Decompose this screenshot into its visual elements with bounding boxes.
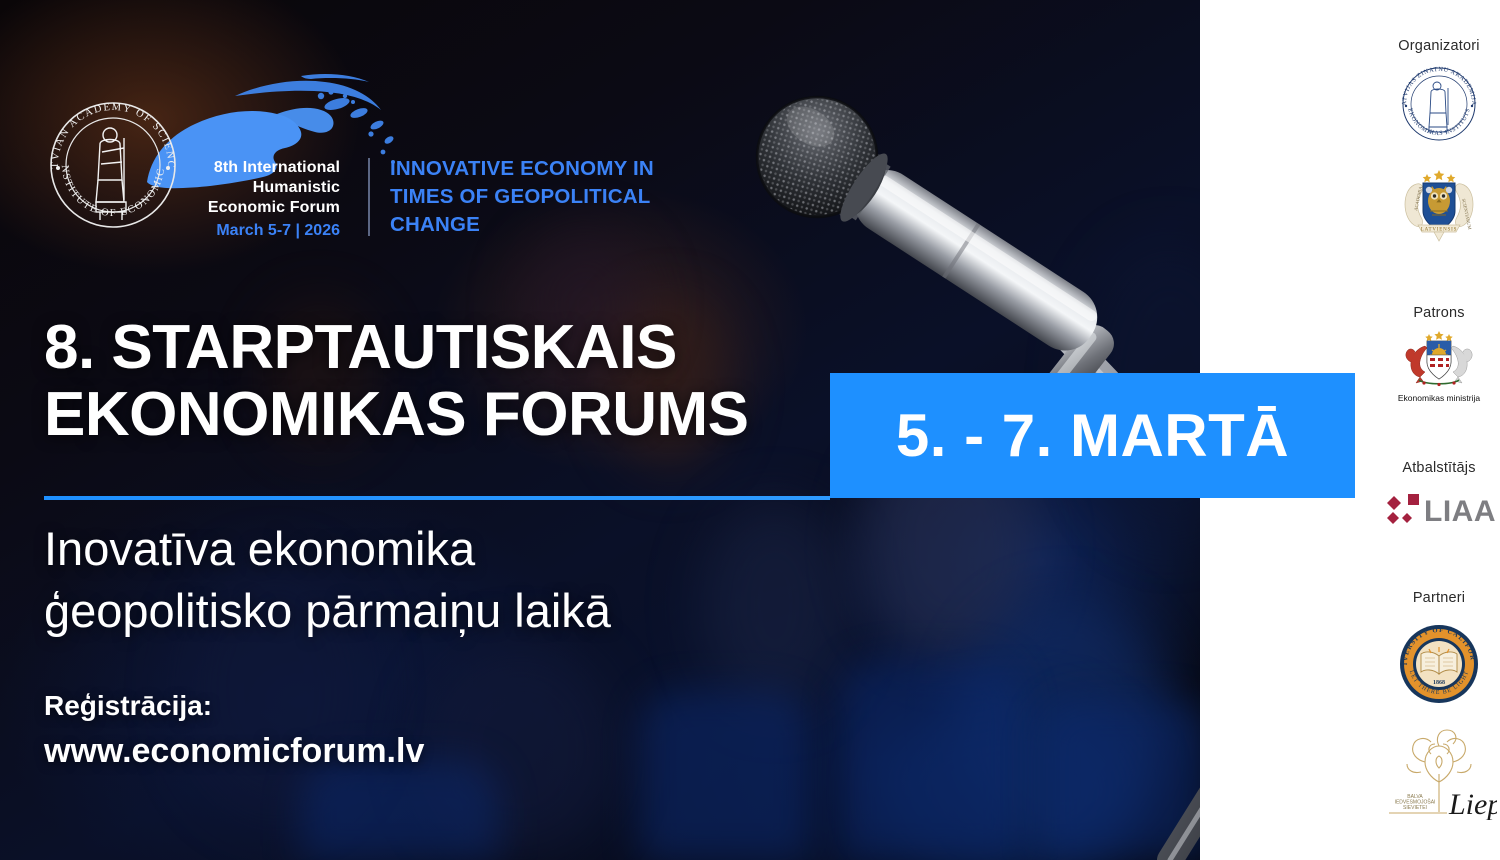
date-badge-label: 5. - 7. MARTĀ bbox=[896, 401, 1289, 470]
svg-text:LATVIAN ACADEMY OF SCIENCES: LATVIAN ACADEMY OF SCIENCES bbox=[38, 90, 176, 169]
headline-divider-rule bbox=[44, 496, 830, 500]
patron-caption: Ekonomikas ministrija bbox=[1378, 393, 1500, 403]
svg-text:SIEVIETEI: SIEVIETEI bbox=[1403, 805, 1427, 811]
liepa-tree-logo-icon: BALVA IEDVESMOJOŠAI SIEVIETEI Liep bbox=[1381, 724, 1497, 820]
sidebar-section-organizers: Organizatori LATVIJAS ZINATNU AKADEMIJAS… bbox=[1378, 38, 1500, 247]
date-badge: 5. - 7. MARTĀ bbox=[830, 373, 1355, 498]
conference-poster: LATVIAN ACADEMY OF SCIENCES INSTITUTE OF… bbox=[0, 0, 1500, 860]
svg-text:LATVIJAS ZINATNU AKADEMIJAS: LATVIJAS ZINATNU AKADEMIJAS bbox=[1396, 61, 1477, 106]
lockup-divider bbox=[368, 158, 370, 236]
registration-block: Reģistrācija: www.economicforum.lv bbox=[44, 688, 424, 773]
lza-economics-institute-seal-icon: LATVIJAS ZINATNU AKADEMIJAS EKONOMIKAS I… bbox=[1396, 61, 1482, 147]
forum-date-line: March 5-7 | 2026 bbox=[198, 221, 340, 241]
liaa-logo-icon: LIAA bbox=[1380, 490, 1498, 530]
subtitle-line-2: ģeopolitisko pārmaiņu laikā bbox=[44, 580, 844, 642]
headline-line-1: 8. STARPTAUTISKAIS bbox=[44, 315, 844, 382]
latvia-coat-of-arms-icon bbox=[1394, 328, 1484, 392]
forum-logo-lockup: LATVIAN ACADEMY OF SCIENCES INSTITUTE OF… bbox=[30, 70, 690, 255]
forum-title-line-1: 8th International bbox=[198, 158, 340, 178]
forum-title-line-2: Humanistic bbox=[198, 178, 340, 198]
sidebar-section-patron: Patrons bbox=[1378, 305, 1500, 403]
poster-headline: 8. STARPTAUTISKAIS EKONOMIKAS FORUMS bbox=[44, 315, 844, 449]
sidebar-label-partners: Partneri bbox=[1378, 590, 1500, 606]
subtitle-line-1: Inovatīva ekonomika bbox=[44, 518, 844, 580]
sidebar-section-supporter: Atbalstītājs LIAA bbox=[1378, 460, 1500, 530]
registration-url[interactable]: www.economicforum.lv bbox=[44, 729, 424, 773]
latvian-academy-of-sciences-crest-icon: ACADEMIA SCIENTIARUM bbox=[1396, 161, 1482, 247]
sidebar-label-supporter: Atbalstītājs bbox=[1378, 460, 1500, 476]
forum-title-lines: 8th International Humanistic Economic Fo… bbox=[198, 158, 340, 242]
svg-text:LATVIENSIS: LATVIENSIS bbox=[1421, 227, 1457, 232]
sponsor-sidebar: Organizatori LATVIJAS ZINATNU AKADEMIJAS… bbox=[1378, 0, 1500, 860]
registration-label: Reģistrācija: bbox=[44, 688, 424, 725]
svg-text:Liep: Liep bbox=[1448, 788, 1497, 820]
svg-text:EKONOMIKAS INSTITUTS: EKONOMIKAS INSTITUTS bbox=[1406, 108, 1471, 138]
forum-title-line-3: Economic Forum bbox=[198, 198, 340, 218]
sidebar-section-partners: Partneri UNIVERSITY OF CALIFORNIA LET TH… bbox=[1378, 590, 1500, 820]
forum-tagline: INNOVATIVE ECONOMY IN TIMES OF GEOPOLITI… bbox=[390, 155, 690, 239]
sidebar-label-organizers: Organizatori bbox=[1378, 38, 1500, 54]
latvian-academy-of-sciences-seal-icon: LATVIAN ACADEMY OF SCIENCES INSTITUTE OF… bbox=[38, 90, 188, 240]
uc-berkeley-seal-icon: UNIVERSITY OF CALIFORNIA LET THERE BE LI… bbox=[1397, 622, 1481, 706]
liaa-wordmark: LIAA bbox=[1424, 495, 1496, 528]
sidebar-label-patron: Patrons bbox=[1378, 305, 1500, 321]
headline-line-2: EKONOMIKAS FORUMS bbox=[44, 382, 844, 449]
svg-text:1868: 1868 bbox=[1433, 680, 1445, 686]
poster-subtitle: Inovatīva ekonomika ģeopolitisko pārmaiņ… bbox=[44, 518, 844, 642]
